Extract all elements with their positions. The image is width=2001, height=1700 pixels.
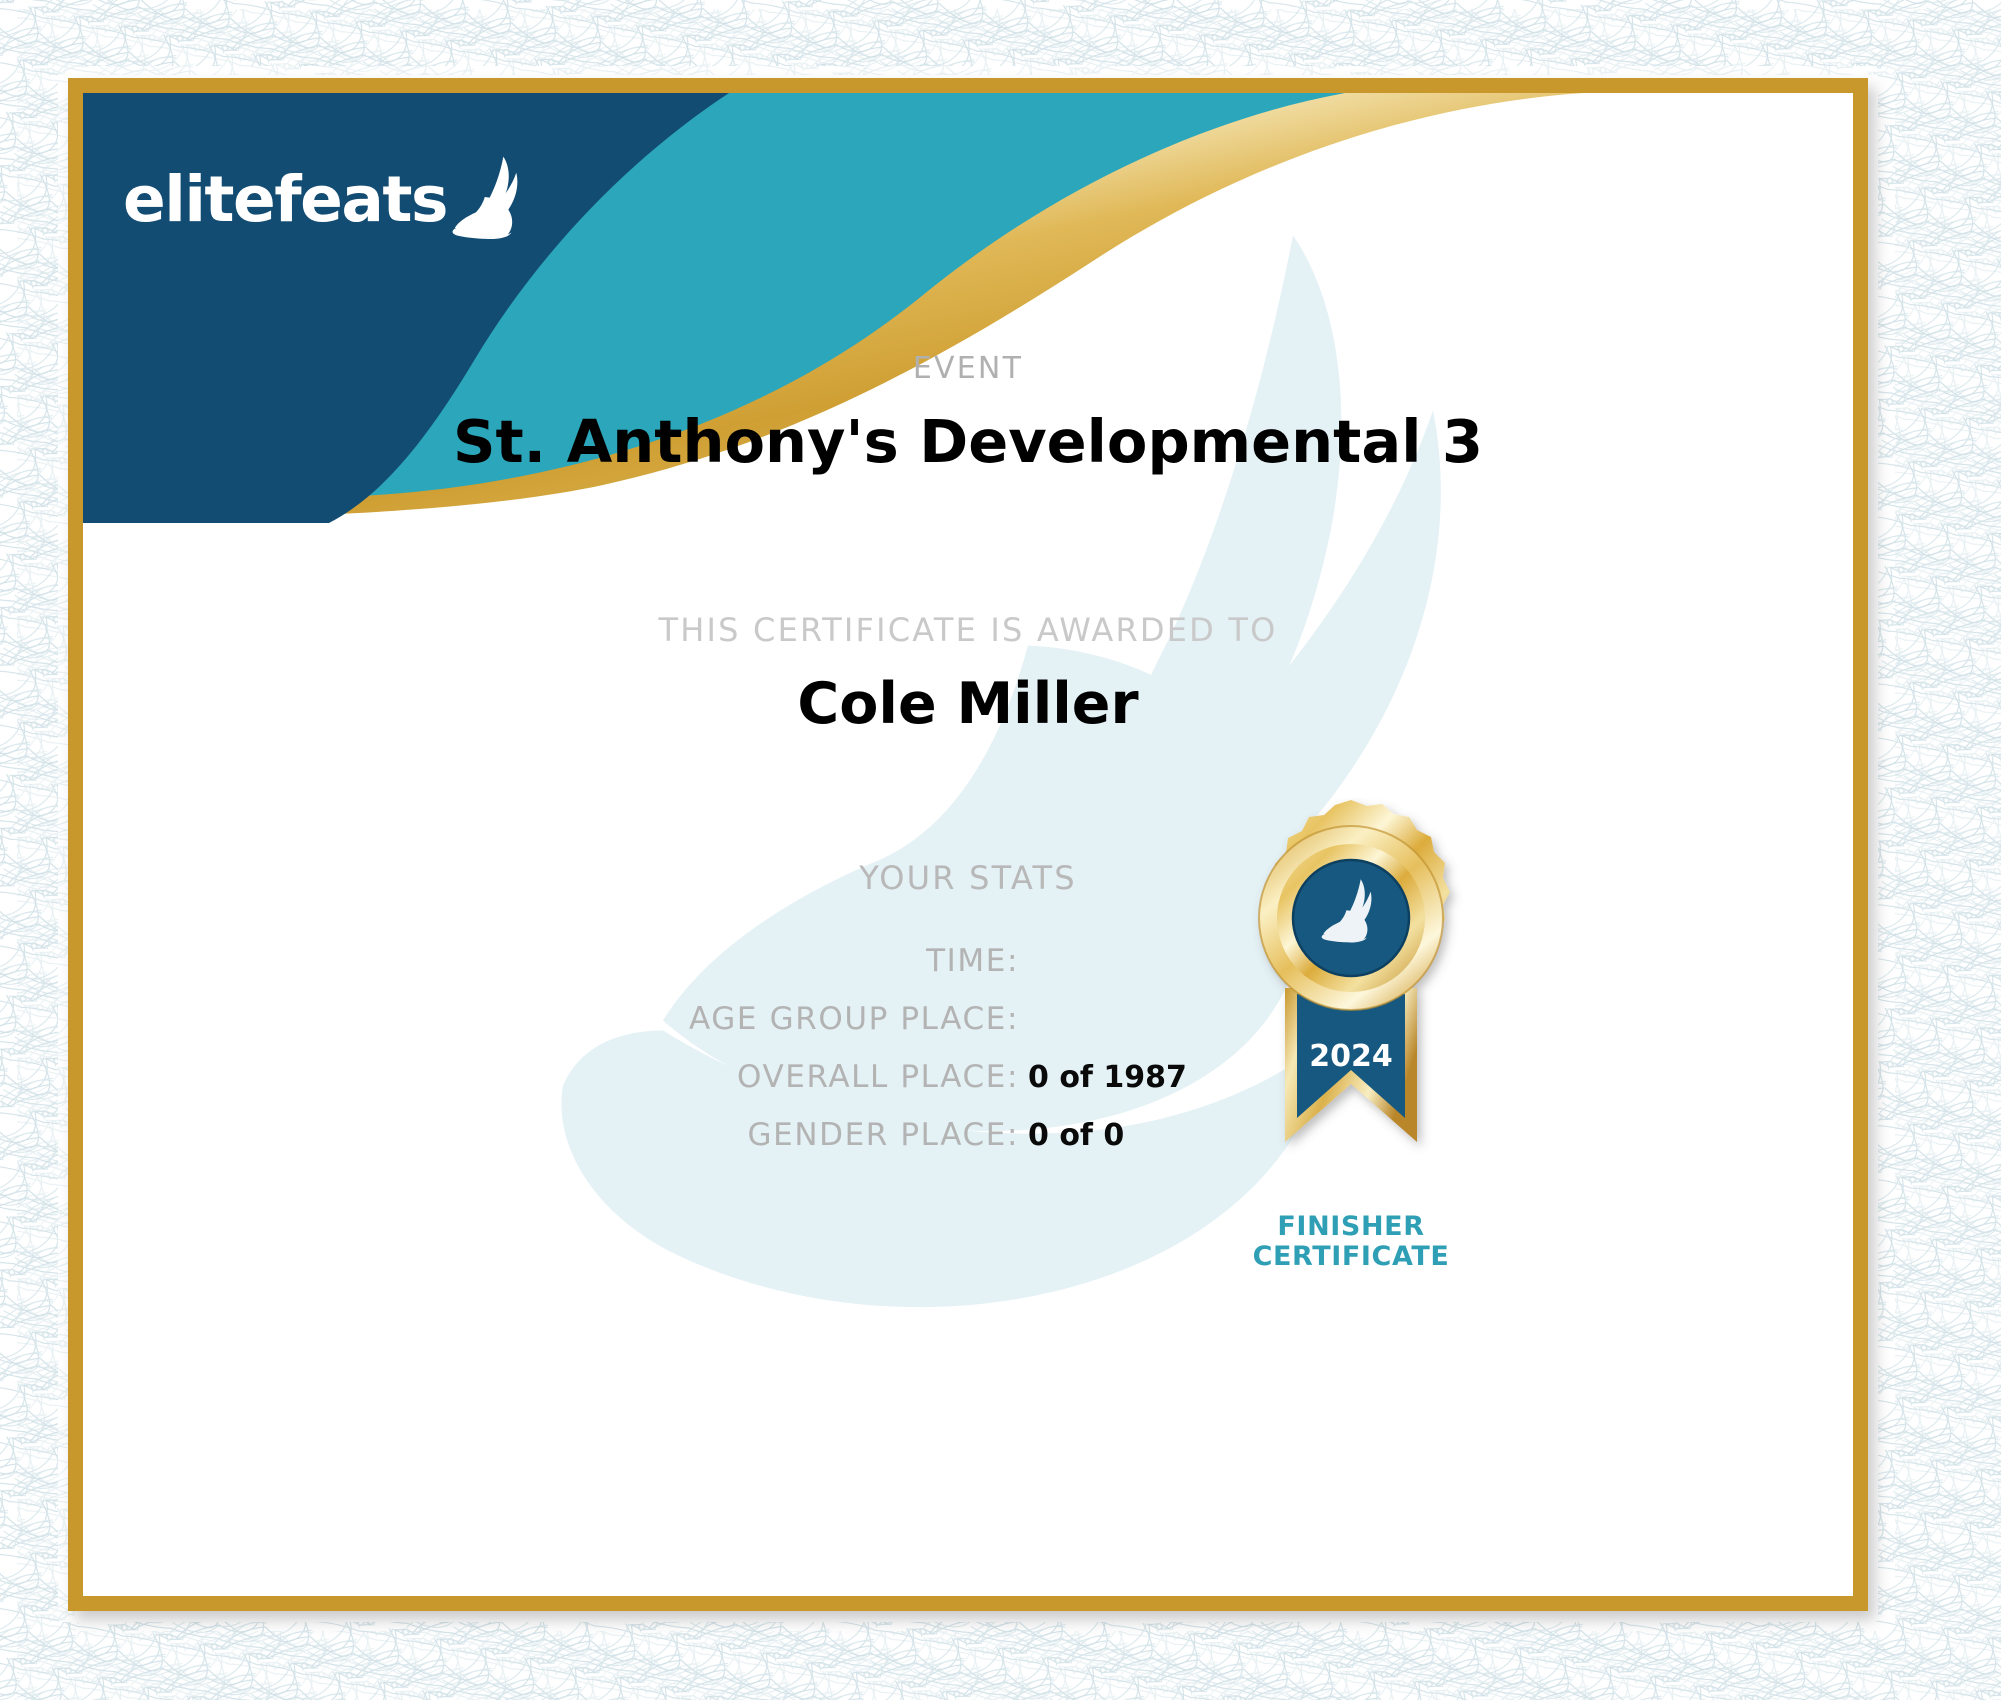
stat-row-overall-place: OVERALL PLACE: 0 of 1987 [83, 1059, 1853, 1095]
event-label: EVENT [83, 351, 1853, 386]
seal-caption: FINISHER CERTIFICATE [1211, 1212, 1491, 1272]
stat-row-gender-place: GENDER PLACE: 0 of 0 [83, 1117, 1853, 1153]
seal-caption-line1: FINISHER [1211, 1212, 1491, 1242]
stat-row-age-group-place: AGE GROUP PLACE: [83, 1001, 1853, 1037]
stat-row-time: TIME: [83, 943, 1853, 979]
stat-label-age-group-place: AGE GROUP PLACE: [83, 1001, 1028, 1037]
certificate-content: EVENT St. Anthony's Developmental 3 THIS… [83, 93, 1853, 1596]
stat-value-overall-place: 0 of 1987 [1028, 1060, 1187, 1095]
stat-label-overall-place: OVERALL PLACE: [83, 1059, 1028, 1095]
seal-year-text: 2024 [1309, 1039, 1393, 1074]
stats-list: TIME: AGE GROUP PLACE: OVERALL PLACE: 0 … [83, 943, 1853, 1175]
finisher-seal: 2024 FINISHER CERTIFICATE [1211, 798, 1491, 1272]
brand-wordmark: elitefeats [123, 168, 447, 231]
stat-label-gender-place: GENDER PLACE: [83, 1117, 1028, 1153]
certificate-page: elitefeats EVENT St. Anthony's Developme… [0, 0, 2001, 1700]
certificate-gold-frame: elitefeats EVENT St. Anthony's Developme… [68, 78, 1868, 1611]
seal-caption-line2: CERTIFICATE [1211, 1242, 1491, 1272]
awarded-to-label: THIS CERTIFICATE IS AWARDED TO [83, 611, 1853, 649]
elitefeats-logo: elitefeats [123, 155, 525, 231]
your-stats-label: YOUR STATS [83, 859, 1853, 897]
event-title: St. Anthony's Developmental 3 [83, 407, 1853, 476]
stat-value-gender-place: 0 of 0 [1028, 1118, 1124, 1153]
award-medal-icon: 2024 [1231, 798, 1471, 1218]
recipient-name: Cole Miller [83, 671, 1853, 737]
winged-foot-icon [451, 155, 525, 239]
stat-label-time: TIME: [83, 943, 1028, 979]
